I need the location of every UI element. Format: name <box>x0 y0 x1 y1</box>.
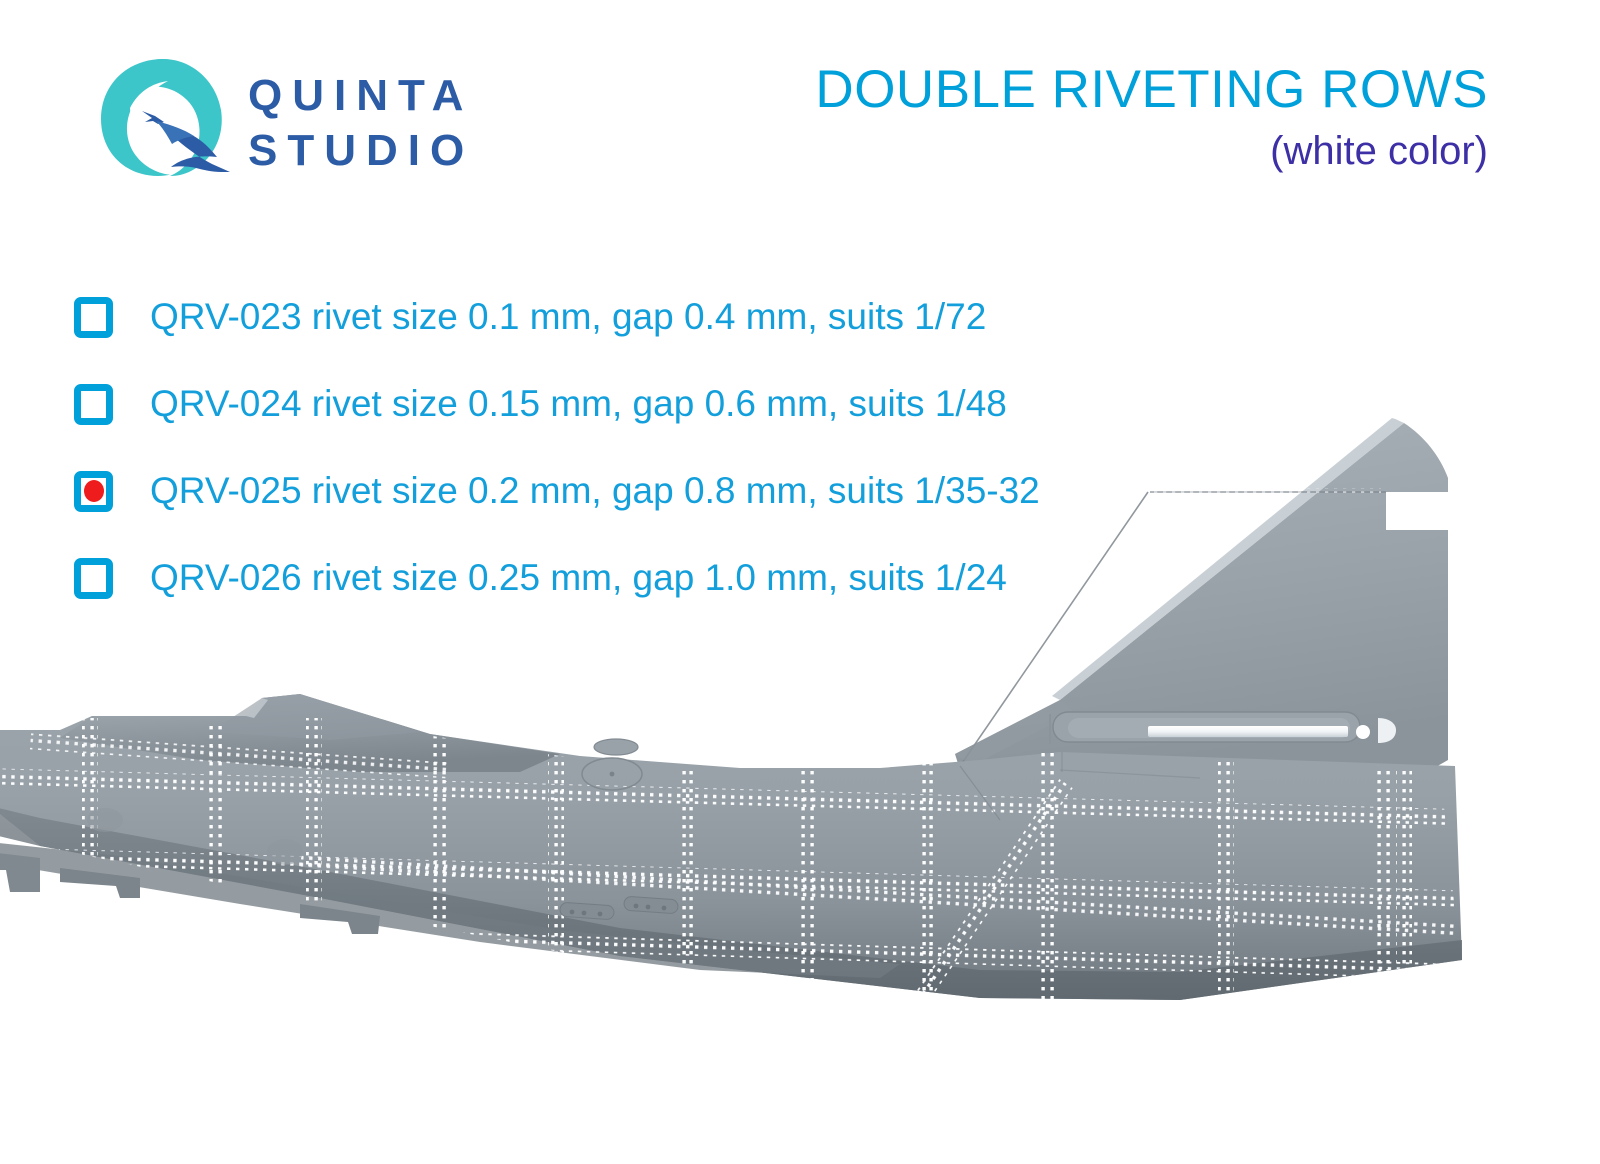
rivet-row-v11 <box>1376 764 1392 994</box>
rivet-row-aft-edge <box>1396 762 1412 992</box>
dorsal-blister <box>594 739 638 755</box>
hatch-screw <box>610 772 615 777</box>
aircraft-model-photo <box>0 400 1600 1164</box>
brand-line-studio: STUDIO <box>248 129 474 173</box>
poster-root: QUINTA STUDIO DOUBLE RIVETING ROWS (whit… <box>0 0 1600 1164</box>
antenna-round-light <box>1356 725 1370 739</box>
brand-block: QUINTA STUDIO <box>92 52 474 194</box>
fin-upper-rivet-row <box>1153 488 1381 493</box>
page-subtitle: (white color) <box>815 130 1488 172</box>
list-item-label: QRV-023 rivet size 0.1 mm, gap 0.4 mm, s… <box>150 296 986 338</box>
header: QUINTA STUDIO DOUBLE RIVETING ROWS (whit… <box>0 0 1600 220</box>
lower-tab-left <box>0 852 40 892</box>
brand-line-quinta: QUINTA <box>248 74 474 118</box>
checkbox-qrv-023[interactable] <box>74 297 113 338</box>
fin-antenna-recess <box>1050 712 1396 744</box>
panel-dimple-1 <box>87 808 123 832</box>
rivet-row-v6 <box>680 746 696 1036</box>
logo-jet-icon <box>142 111 164 124</box>
antenna-white-strip <box>1148 726 1348 737</box>
aircraft-photo-svg <box>0 400 1600 1164</box>
rivet-row-v10 <box>1218 760 1234 1010</box>
panel-dimple-2 <box>267 839 303 865</box>
rivet-row-v2 <box>208 722 224 1012</box>
quinta-q-jet-logo-icon <box>92 52 234 194</box>
page-title: DOUBLE RIVETING ROWS <box>815 62 1488 118</box>
list-item[interactable]: QRV-023 rivet size 0.1 mm, gap 0.4 mm, s… <box>74 286 1174 348</box>
brand-wordmark: QUINTA STUDIO <box>248 74 474 173</box>
title-block: DOUBLE RIVETING ROWS (white color) <box>815 62 1488 172</box>
